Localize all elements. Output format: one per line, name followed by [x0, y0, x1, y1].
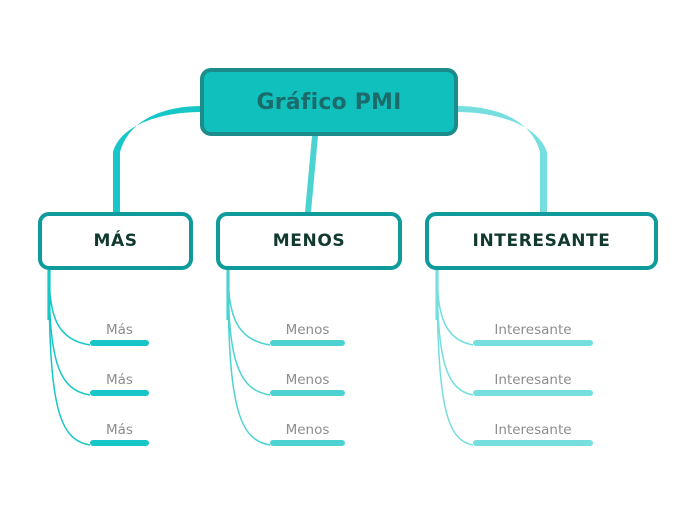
edge-root-to-mas [113, 106, 202, 212]
branch-node-label: MÁS [93, 231, 137, 251]
edge-root-to-menos [305, 136, 318, 212]
leaf-item[interactable]: Menos [270, 372, 345, 396]
leaf-item[interactable]: Más [90, 422, 149, 446]
leaf-item-underline [270, 390, 345, 396]
branch-node-label: MENOS [273, 231, 345, 251]
leaf-item-label: Más [90, 322, 149, 340]
leaf-item-label: Menos [270, 422, 345, 440]
leaf-item-underline [473, 340, 593, 346]
branch-node-menos[interactable]: MENOS [216, 212, 402, 270]
branch-node-interesante[interactable]: INTERESANTE [425, 212, 658, 270]
leaf-item[interactable]: Menos [270, 322, 345, 346]
leaf-item[interactable]: Menos [270, 422, 345, 446]
branch-node-label: INTERESANTE [473, 231, 611, 251]
edges-branch-menos [228, 272, 270, 445]
branch-node-mas[interactable]: MÁS [38, 212, 193, 270]
edges-branch-interesante [437, 272, 473, 445]
edge-trunk-mas [47, 270, 50, 320]
root-node[interactable]: Gráfico PMI [200, 68, 458, 136]
root-node-label: Gráfico PMI [256, 90, 401, 115]
leaf-item-underline [90, 340, 149, 346]
leaf-item-underline [473, 440, 593, 446]
edge-trunk-interesante [435, 270, 438, 320]
leaf-item-label: Menos [270, 322, 345, 340]
leaf-item-underline [473, 390, 593, 396]
leaf-item-underline [90, 390, 149, 396]
leaf-item-label: Menos [270, 372, 345, 390]
leaf-item[interactable]: Interesante [473, 422, 593, 446]
edges-branch-mas [49, 272, 90, 445]
leaf-item[interactable]: Interesante [473, 322, 593, 346]
edge-trunk-menos [226, 270, 229, 320]
mindmap-canvas: Gráfico PMI MÁS MENOS INTERESANTE Más Má… [0, 0, 697, 520]
leaf-item-underline [90, 440, 149, 446]
leaf-item-label: Interesante [473, 322, 593, 340]
leaf-item-underline [270, 340, 345, 346]
leaf-item-label: Más [90, 422, 149, 440]
leaf-item[interactable]: Más [90, 322, 149, 346]
leaf-item-label: Más [90, 372, 149, 390]
leaf-item[interactable]: Interesante [473, 372, 593, 396]
edge-root-to-interesante [456, 106, 547, 212]
leaf-item-label: Interesante [473, 422, 593, 440]
leaf-item-label: Interesante [473, 372, 593, 390]
leaf-item[interactable]: Más [90, 372, 149, 396]
leaf-item-underline [270, 440, 345, 446]
